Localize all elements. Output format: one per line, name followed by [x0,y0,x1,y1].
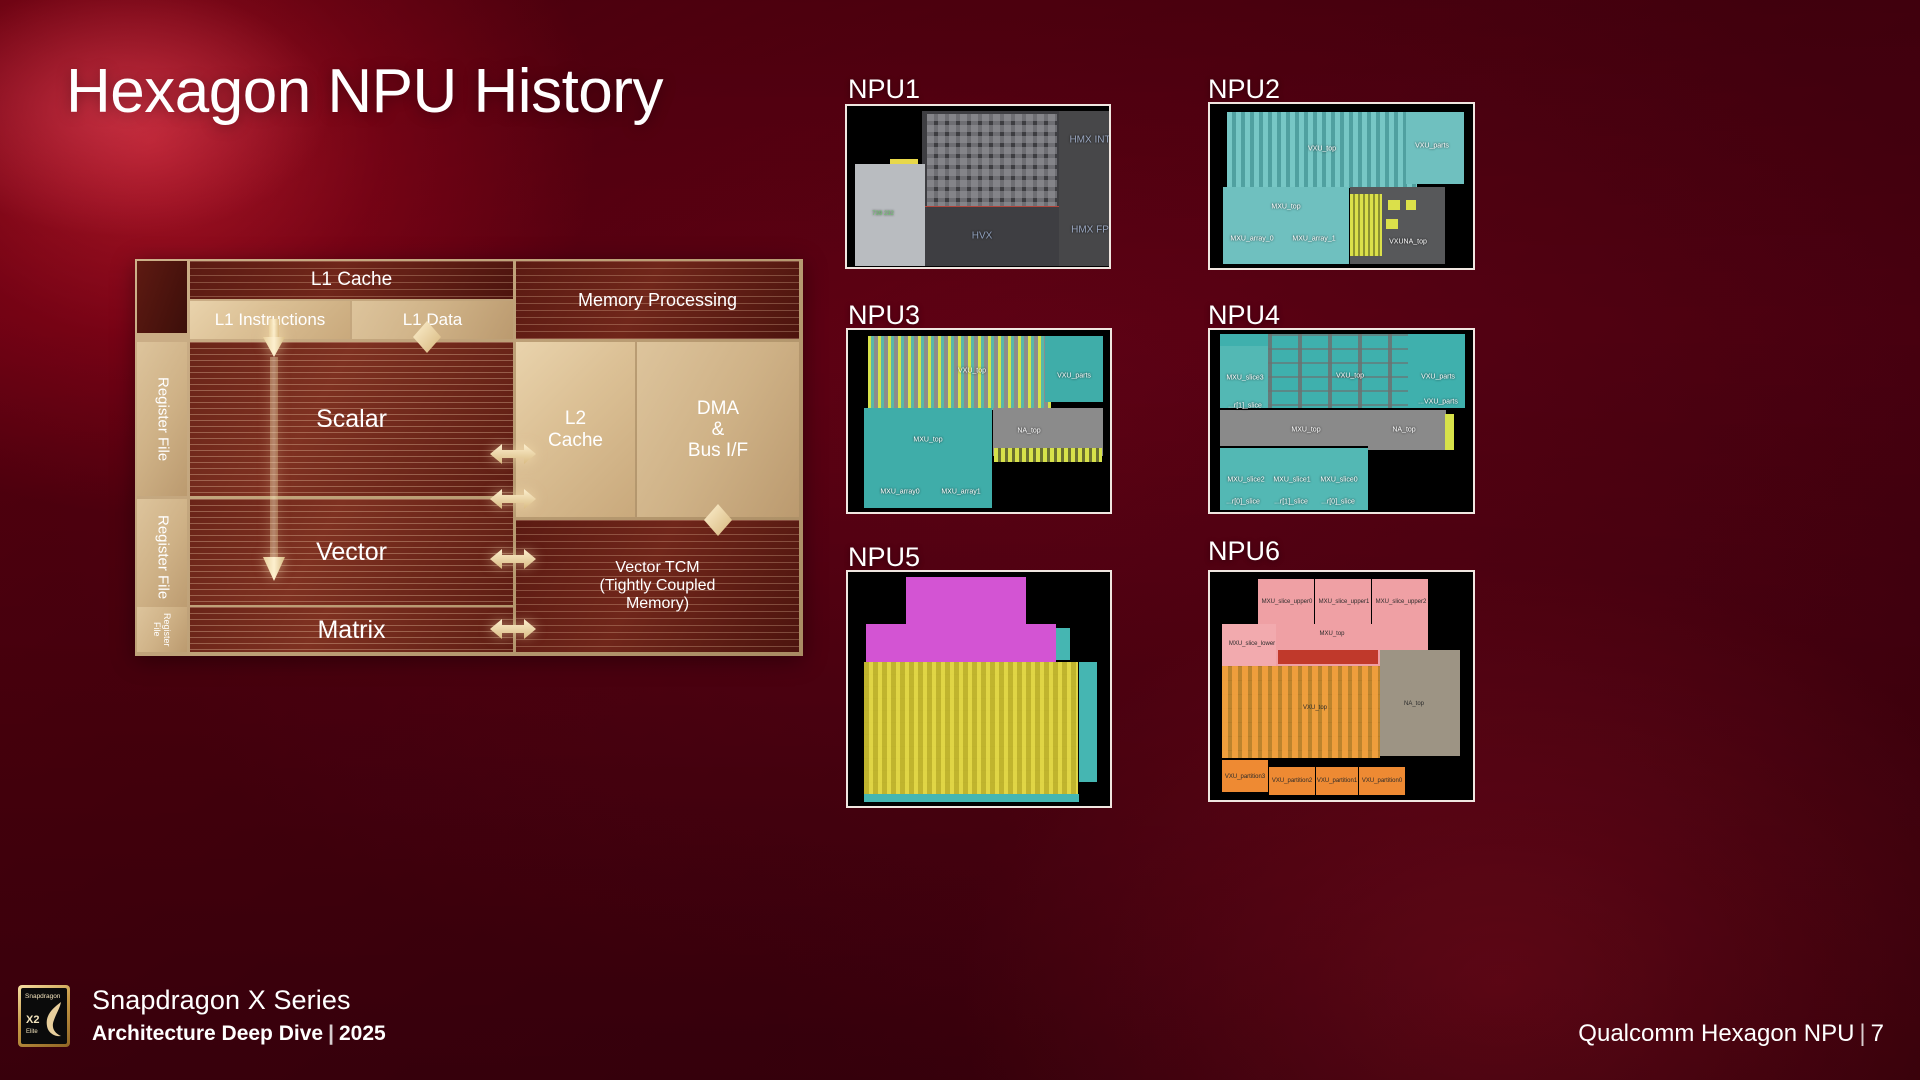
npu4-block-label-mxu-slice1: MXU_slice1 [1273,477,1310,484]
npu4-block-label-mxu-slice3: MXU_slice3 [1226,375,1263,382]
footer-brand-title: Snapdragon X Series [92,985,351,1016]
npu4-block-label-mxu-top: MXU_top [1291,427,1320,434]
arch-vector-tcm-label-1: Vector TCM [615,559,699,577]
npu1-pad-row [890,159,918,164]
npu1-block-label-hvx: HVX [972,231,993,242]
npu6-vxu-top-region [1222,666,1380,758]
footer-right-info: Qualcomm Hexagon NPU|7 [1578,1020,1884,1048]
npu1-die-shot: HMX INT HMX FP HVX 739 232 [845,104,1111,269]
npu4-label: NPU4 [1208,300,1280,331]
arch-register-file-1-label: Register File [154,377,171,461]
arch-corner-filler [137,261,187,333]
npu5-teal-strip-bottom [864,794,1079,802]
npu3-block-label-mxu-array0: MXU_array0 [880,489,919,496]
footer-year: 2025 [339,1022,386,1045]
npu2-mxu-region [1223,187,1349,264]
arch-l2-cache-label-2: Cache [548,430,603,451]
npu6-block-label-na-top: NA_top [1404,701,1424,707]
npu6-block-label-mxu-lower: MXU_slice_lower [1229,641,1275,647]
arch-vector-tcm-label-3: Memory) [626,595,689,613]
snapdragon-logo: Snapdragon X2 Elite [18,985,70,1047]
scalar-l2-arrow [490,442,536,466]
npu6-die-shot: MXU_slice_upper0 MXU_slice_upper1 MXU_sl… [1208,570,1475,802]
npu4-block-label-r1-slice-b: ...r[1]_slice [1274,499,1308,506]
npu2-die-shot: VXU_top VXU_parts MXU_top MXU_array_0 MX… [1208,102,1475,270]
npu3-label: NPU3 [848,300,920,331]
arch-dma-bus-if: DMA & Bus I/F [637,342,799,517]
npu3-die-shot: VXU_top VXU_parts MXU_top NA_top MXU_arr… [846,328,1112,514]
arch-memory-processing: Memory Processing [516,261,799,339]
npu1-route-line [925,206,1059,207]
npu4-block-label-vxu-parts-2: ...VXU_parts [1418,399,1458,406]
npu1-array-grid [927,114,1057,206]
npu1-block-label-hmx-int: HMX INT [1065,135,1111,146]
instruction-flow-arrow [261,319,287,619]
npu2-block-label-mxu-array0: MXU_array_0 [1230,236,1273,243]
arch-register-file-scalar: Register File [137,342,187,496]
arch-matrix-unit: Matrix [190,607,513,652]
npu3-block-label-mxu-top: MXU_top [913,437,942,444]
npu3-yellow-strip [994,448,1102,462]
arch-vector-unit: Vector [190,499,513,605]
npu2-block-label-mxu-array1: MXU_array_1 [1292,236,1335,243]
arch-register-file-vector: Register File [137,499,187,615]
npu6-red-band [1278,650,1378,664]
dma-tcm-diamond-connector [704,504,732,536]
npu2-block-label-vxuna-top: VXUNA_top [1389,239,1427,246]
npu1-block-label-coords: 739 232 [872,211,894,217]
npu2-yellow-cells-2 [1406,200,1416,210]
npu2-yellow-array [1350,194,1382,256]
arch-l1-cache-label: L1 Cache [311,269,392,290]
npu2-block-label-vxu-top: VXU_top [1308,146,1336,153]
npu3-block-label-mxu-array1: MXU_array1 [941,489,980,496]
npu6-block-label-vxu-top: VXU_top [1303,705,1327,711]
npu1-block-label-hmx-fp: HMX FP [1065,225,1111,236]
npu4-block-label-na-top: NA_top [1392,427,1415,434]
hexagon-architecture-diagram: L1 Cache L1 Instructions L1 Data Memory … [135,259,803,656]
npu6-block-label-vxu-part3: VXU_partition3 [1225,774,1265,780]
npu4-block-label-vxu-parts: VXU_parts [1421,374,1455,381]
npu2-yellow-cells [1388,200,1400,210]
footer-sep-1: | [323,1022,339,1045]
npu4-block-label-r1-slice-top: ...r[1]_slice [1228,403,1262,410]
npu4-block-label-mxu-slice0: MXU_slice0 [1320,477,1357,484]
arch-l2-cache-label-1: L2 [565,408,586,429]
npu2-block-label-vxu-parts: VXU_parts [1415,143,1449,150]
npu6-block-label-vxu-part1: VXU_partition1 [1317,778,1357,784]
footer-sep-2: | [1854,1020,1870,1047]
npu1-label: NPU1 [848,74,920,105]
footer-page-number: 7 [1871,1020,1884,1047]
npu5-teal-accent [1056,628,1070,660]
npu4-block-label-vxu-top: VXU_top [1336,373,1364,380]
footer-deck-name: Architecture Deep Dive [92,1022,323,1045]
npu5-die-shot [846,570,1112,808]
arch-dma-label-2: & [712,419,725,440]
arch-vector-tcm-label-2: (Tightly Coupled [600,577,716,595]
snapdragon-logo-inner: Snapdragon X2 Elite [21,988,67,1044]
page-title: Hexagon NPU History [66,56,663,127]
npu5-yellow-main [864,662,1078,802]
npu6-block-label-mxu-top: MXU_top [1319,631,1344,637]
arch-memory-processing-label: Memory Processing [578,290,737,310]
vector-l2-arrow [490,487,536,511]
arch-dma-label-1: DMA [697,398,739,419]
npu5-teal-strip-right [1079,662,1097,782]
npu3-block-label-vxu-parts: VXU_parts [1057,373,1091,380]
npu4-vxu-grid [1268,334,1408,408]
npu2-label: NPU2 [1208,74,1280,105]
arch-matrix-label: Matrix [317,616,385,644]
arch-l1-cache: L1 Cache [190,261,513,299]
footer-brand-subtitle: Architecture Deep Dive|2025 [92,1022,386,1046]
npu5-magenta-upper [906,577,1026,625]
npu5-label: NPU5 [848,542,920,573]
snapdragon-logo-elite: Elite [26,1029,38,1035]
npu2-block-label-mxu-top: MXU_top [1271,204,1300,211]
npu6-label: NPU6 [1208,536,1280,567]
npu6-block-label-mxu-upper2: MXU_slice_upper2 [1376,599,1427,605]
matrix-tcm-arrow [490,617,536,641]
arch-register-file-matrix: Register File [137,607,187,652]
npu5-magenta-lower [866,624,1056,662]
arch-register-file-2-label: Register File [154,515,171,599]
npu6-block-label-vxu-part2: VXU_partition2 [1272,778,1312,784]
npu2-yellow-cells-3 [1386,219,1398,229]
npu3-block-label-vxu-top: VXU_top [958,368,986,375]
footer-section-label: Qualcomm Hexagon NPU [1578,1020,1854,1047]
npu3-block-label-na-top: NA_top [1017,428,1040,435]
npu4-yellow-col [1445,414,1454,450]
npu4-block-label-mxu-slice2: MXU_slice2 [1227,477,1264,484]
npu4-block-label-r0-slice-c: ...r[0]_slice [1321,499,1355,506]
vector-tcm-arrow [490,547,536,571]
snapdragon-logo-x2: X2 [26,1014,39,1026]
arch-scalar-unit: Scalar [190,342,513,496]
arch-register-file-3-label: Register File [152,607,172,652]
npu6-block-label-mxu-upper1: MXU_slice_upper1 [1319,599,1370,605]
npu3-vxu-parts-region [1045,336,1103,402]
npu6-block-label-mxu-upper0: MXU_slice_upper0 [1262,599,1313,605]
arch-vector-label: Vector [316,538,387,566]
l1-data-diamond-connector [413,321,441,353]
arch-scalar-label: Scalar [316,405,387,433]
arch-vector-tcm: Vector TCM (Tightly Coupled Memory) [516,520,799,652]
snapdragon-swirl-icon [39,999,65,1041]
npu4-die-shot: MXU_slice3 VXU_top VXU_parts ...VXU_part… [1208,328,1475,514]
arch-dma-label-3: Bus I/F [688,440,748,461]
npu4-block-label-r0-slice-a: ...r[0]_slice [1226,499,1260,506]
npu6-block-label-vxu-part0: VXU_partition0 [1362,778,1402,784]
